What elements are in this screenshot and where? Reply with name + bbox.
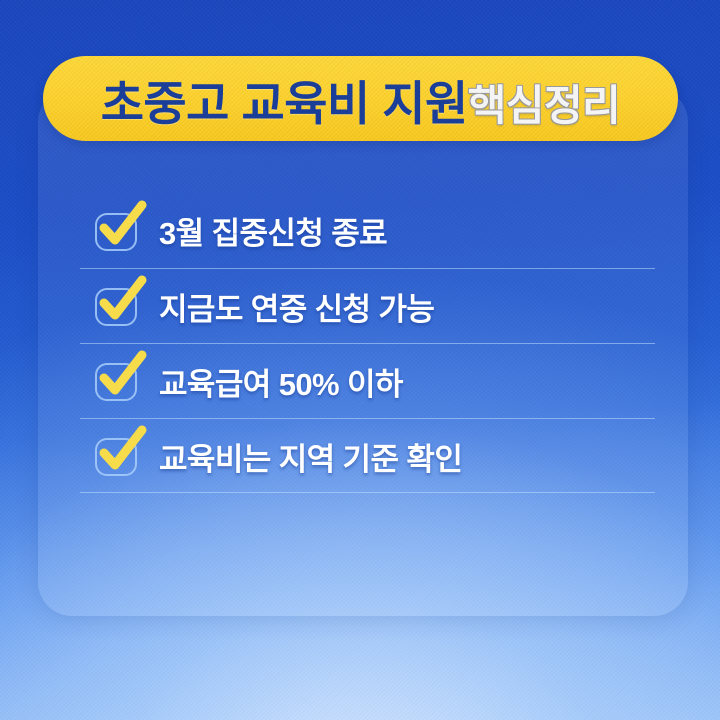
page-title-accent: 핵심정리 — [468, 72, 621, 133]
list-item: 교육급여 50% 이하 — [80, 343, 655, 418]
list-item-label: 3월 집중신청 종료 — [159, 208, 387, 253]
check-mark-icon — [93, 282, 141, 330]
list-item-label: 지금도 연중 신청 가능 — [159, 284, 434, 329]
page-title-main: 초중고 교육비 지원 — [101, 65, 468, 134]
list-item: 3월 집중신청 종료 — [80, 193, 655, 268]
title-banner: 초중고 교육비 지원 핵심정리 — [43, 56, 678, 141]
checklist: 3월 집중신청 종료 지금도 연중 신청 가능 교육급여 50% 이하 — [80, 193, 655, 493]
list-item: 지금도 연중 신청 가능 — [80, 268, 655, 343]
check-mark-icon — [93, 357, 141, 405]
poster-canvas: 초중고 교육비 지원 핵심정리 3월 집중신청 종료 지금도 연중 신청 가능 — [0, 0, 720, 720]
list-item: 교육비는 지역 기준 확인 — [80, 418, 655, 493]
title-row: 초중고 교육비 지원 핵심정리 — [101, 65, 621, 134]
check-mark-icon — [93, 207, 141, 255]
check-mark-icon — [93, 432, 141, 480]
list-item-label: 교육비는 지역 기준 확인 — [159, 434, 462, 479]
list-item-label: 교육급여 50% 이하 — [159, 359, 403, 404]
